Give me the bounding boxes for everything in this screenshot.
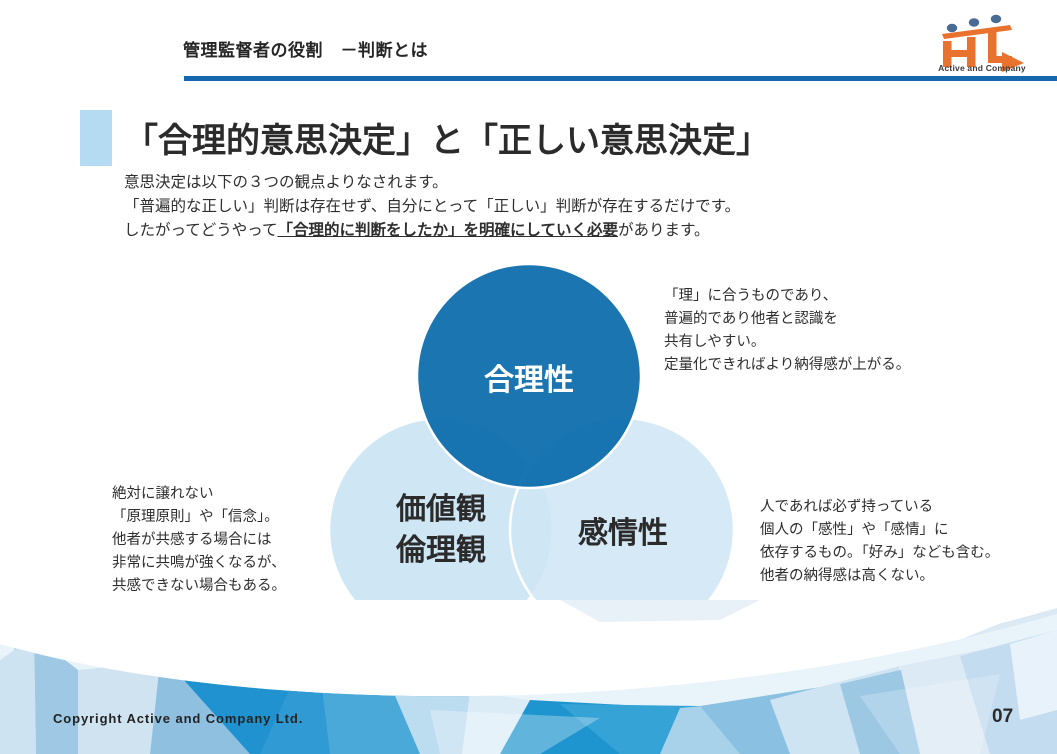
- page-number: 07: [992, 706, 1013, 728]
- annotation-line: 共有しやすい。: [664, 331, 910, 354]
- annotation-line: 他者が共感する場合には: [112, 529, 286, 552]
- copyright-text: Copyright Active and Company Ltd.: [53, 711, 303, 726]
- annotation-line: 「原理原則」や「信念」。: [112, 506, 286, 529]
- lead-line-2: 「普遍的な正しい」判断は存在せず、自分にとって「正しい」判断が存在するだけです。: [124, 195, 740, 219]
- header-divider: [184, 76, 1057, 81]
- annotation-line: 人であれば必ず持っている: [760, 496, 999, 519]
- lead-line-1: 意思決定は以下の３つの観点よりなされます。: [124, 171, 740, 195]
- footer-decoration: [0, 600, 1057, 754]
- annotation-line: 個人の「感性」や「感情」に: [760, 519, 999, 542]
- lead-line-3: したがってどうやって「合理的に判断をしたか」を明確にしていく必要があります。: [124, 219, 740, 243]
- annotation-values-ethics: 絶対に譲れない 「原理原則」や「信念」。 他者が共感する場合には 非常に共鳴が強…: [112, 483, 286, 598]
- annotation-line: 他者の納得感は高くない。: [760, 565, 999, 588]
- venn-circle-rationality: [417, 264, 641, 488]
- lead-line-3-prefix: したがってどうやって: [124, 222, 277, 239]
- lead-line-3-emphasis: 「合理的に判断をしたか」を明確にしていく必要: [277, 222, 618, 239]
- annotation-rationality: 「理」に合うものであり、 普遍的であり他者と認識を 共有しやすい。 定量化できれ…: [664, 285, 910, 377]
- annotation-line: 「理」に合うものであり、: [664, 285, 910, 308]
- lead-paragraph: 意思決定は以下の３つの観点よりなされます。 「普遍的な正しい」判断は存在せず、自…: [124, 171, 740, 243]
- page-title: 「合理的意思決定」と「正しい意思決定」: [124, 113, 770, 162]
- annotation-line: 絶対に譲れない: [112, 483, 286, 506]
- annotation-line: 普遍的であり他者と認識を: [664, 308, 910, 331]
- logo-caption: Active and Company: [929, 63, 1035, 73]
- annotation-line: 定量化できればより納得感が上がる。: [664, 354, 910, 377]
- annotation-line: 非常に共鳴が強くなるが、: [112, 552, 286, 575]
- header-title: 管理監督者の役割 －判断とは: [183, 36, 428, 61]
- lead-line-3-suffix: があります。: [618, 222, 709, 239]
- slide: 管理監督者の役割 －判断とは Active and Company 「合理的意思…: [0, 0, 1057, 754]
- title-accent-bar: [80, 110, 112, 166]
- annotation-emotion: 人であれば必ず持っている 個人の「感性」や「感情」に 依存するもの。「好み」など…: [760, 496, 999, 588]
- annotation-line: 共感できない場合もある。: [112, 575, 286, 598]
- annotation-line: 依存するもの。「好み」なども含む。: [760, 542, 999, 565]
